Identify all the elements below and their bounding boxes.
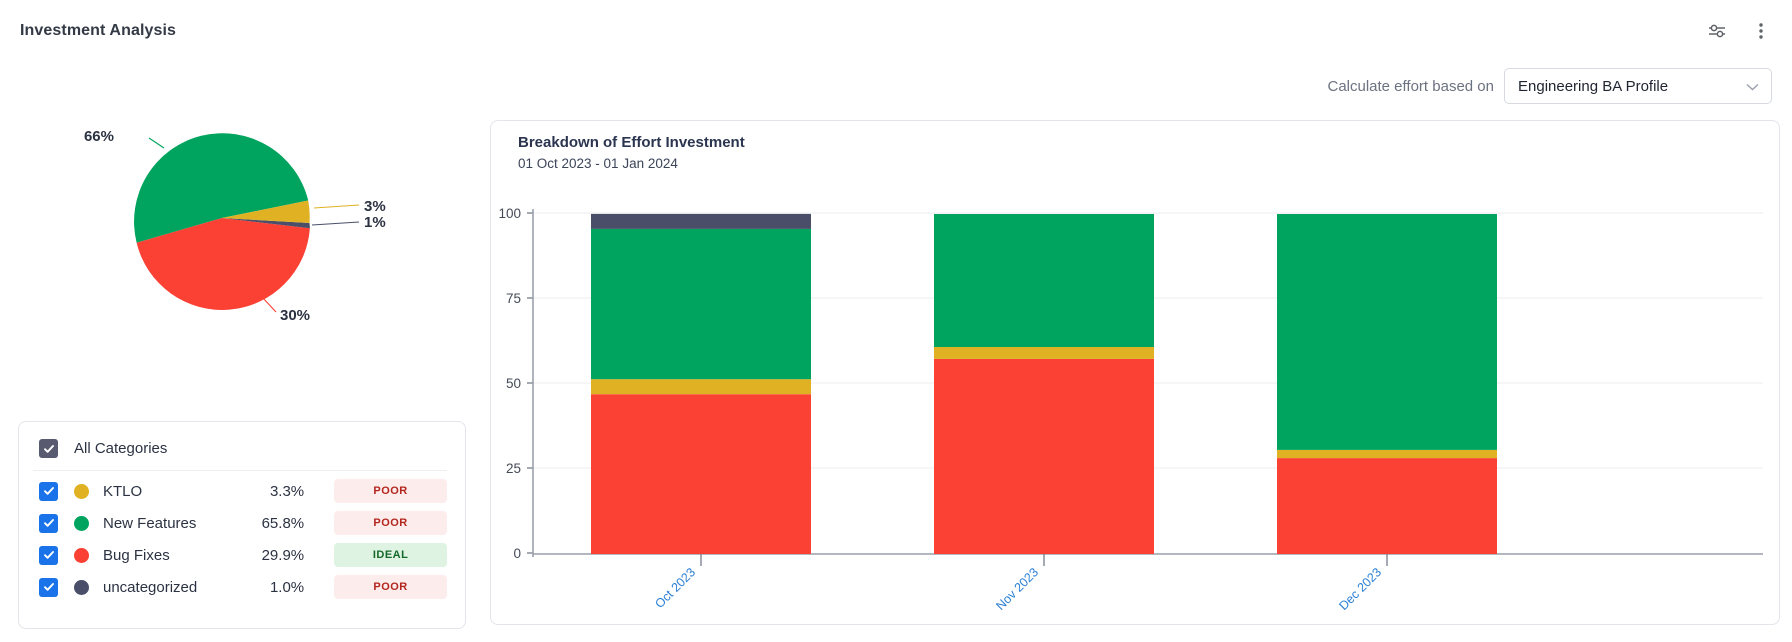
- bar-segment-bug-fixes-oct[interactable]: [591, 394, 811, 554]
- effort-breakdown-bar-chart: Percentage (Ticket count) 100 75 50 25 0: [491, 121, 1781, 626]
- bar-segment-new-features-oct[interactable]: [591, 229, 811, 379]
- status-badge-bug-fixes: IDEAL: [334, 543, 447, 567]
- category-percent-uncategorized: 1.0%: [235, 579, 304, 596]
- investment-analysis-page: Investment Analysis Calculate effort bas…: [0, 0, 1792, 642]
- more-vertical-icon[interactable]: [1748, 18, 1774, 44]
- y-tick-0: 0: [513, 546, 521, 561]
- x-tick-oct-2023: Oct 2023: [652, 565, 698, 611]
- color-swatch-bug-fixes: [74, 548, 89, 563]
- x-tick-nov-2023: Nov 2023: [993, 565, 1041, 613]
- all-categories-checkbox[interactable]: [39, 439, 58, 458]
- bar-group-oct-2023: [591, 214, 811, 554]
- chevron-down-icon: [1746, 80, 1759, 93]
- list-item[interactable]: New Features 65.8% POOR: [33, 507, 447, 539]
- pie-leader-new-features: [149, 138, 164, 148]
- effort-profile-selected-value: Engineering BA Profile: [1518, 78, 1668, 95]
- category-percent-bug-fixes: 29.9%: [235, 547, 304, 564]
- pie-label-bug-fixes: 30%: [280, 307, 310, 324]
- bar-segment-ktlo-oct[interactable]: [591, 379, 811, 394]
- effort-distribution-pie-chart: 66% 3% 1% 30%: [14, 120, 474, 390]
- category-checkbox-ktlo[interactable]: [39, 482, 58, 501]
- category-name-bug-fixes: Bug Fixes: [103, 547, 235, 564]
- bar-segment-ktlo-nov[interactable]: [934, 347, 1154, 359]
- color-swatch-ktlo: [74, 484, 89, 499]
- category-name-new-features: New Features: [103, 515, 235, 532]
- all-categories-label: All Categories: [74, 440, 167, 457]
- bar-group-nov-2023: [934, 214, 1154, 554]
- category-name-uncategorized: uncategorized: [103, 579, 235, 596]
- effort-basis-control: Calculate effort based on Engineering BA…: [1327, 68, 1772, 104]
- status-badge-new-features: POOR: [334, 511, 447, 535]
- bar-segment-bug-fixes-nov[interactable]: [934, 359, 1154, 554]
- status-badge-uncategorized: POOR: [334, 575, 447, 599]
- x-tick-dec-2023: Dec 2023: [1336, 565, 1384, 613]
- list-item[interactable]: Bug Fixes 29.9% IDEAL: [33, 539, 447, 571]
- list-item[interactable]: KTLO 3.3% POOR: [33, 475, 447, 507]
- y-tick-50: 50: [506, 376, 521, 391]
- y-tick-75: 75: [506, 291, 521, 306]
- effort-breakdown-card: Breakdown of Effort Investment 01 Oct 20…: [490, 120, 1780, 625]
- bar-segment-bug-fixes-dec[interactable]: [1277, 458, 1497, 554]
- category-name-ktlo: KTLO: [103, 483, 235, 500]
- bar-segment-new-features-nov[interactable]: [934, 214, 1154, 347]
- legend-item-list: KTLO 3.3% POOR New Features 65.8% POOR B…: [33, 471, 447, 603]
- pie-label-ktlo: 3%: [364, 198, 386, 215]
- category-percent-ktlo: 3.3%: [235, 483, 304, 500]
- pie-label-new-features: 66%: [84, 128, 114, 145]
- bar-segment-new-features-dec[interactable]: [1277, 214, 1497, 450]
- color-swatch-uncategorized: [74, 580, 89, 595]
- category-percent-new-features: 65.8%: [235, 515, 304, 532]
- bar-segment-ktlo-dec[interactable]: [1277, 450, 1497, 458]
- category-checkbox-uncategorized[interactable]: [39, 578, 58, 597]
- pie-leader-uncategorized: [312, 222, 359, 225]
- y-tick-25: 25: [506, 461, 521, 476]
- page-title: Investment Analysis: [20, 22, 176, 40]
- effort-basis-label: Calculate effort based on: [1327, 78, 1494, 95]
- sliders-icon[interactable]: [1704, 18, 1730, 44]
- color-swatch-new-features: [74, 516, 89, 531]
- pie-leader-bug-fixes: [262, 297, 276, 312]
- pie-label-uncategorized: 1%: [364, 214, 386, 231]
- list-item[interactable]: uncategorized 1.0% POOR: [33, 571, 447, 603]
- pie-leader-ktlo: [314, 205, 359, 208]
- y-tick-100: 100: [498, 206, 521, 221]
- header-actions: [1704, 18, 1774, 44]
- legend-all-categories-row[interactable]: All Categories: [33, 436, 447, 471]
- bar-segment-uncategorized-oct[interactable]: [591, 214, 811, 229]
- status-badge-ktlo: POOR: [334, 479, 447, 503]
- bar-group-dec-2023: [1277, 214, 1497, 554]
- category-checkbox-bug-fixes[interactable]: [39, 546, 58, 565]
- effort-profile-select[interactable]: Engineering BA Profile: [1504, 68, 1772, 104]
- categories-legend-card: All Categories KTLO 3.3% POOR New Featur…: [18, 421, 466, 629]
- category-checkbox-new-features[interactable]: [39, 514, 58, 533]
